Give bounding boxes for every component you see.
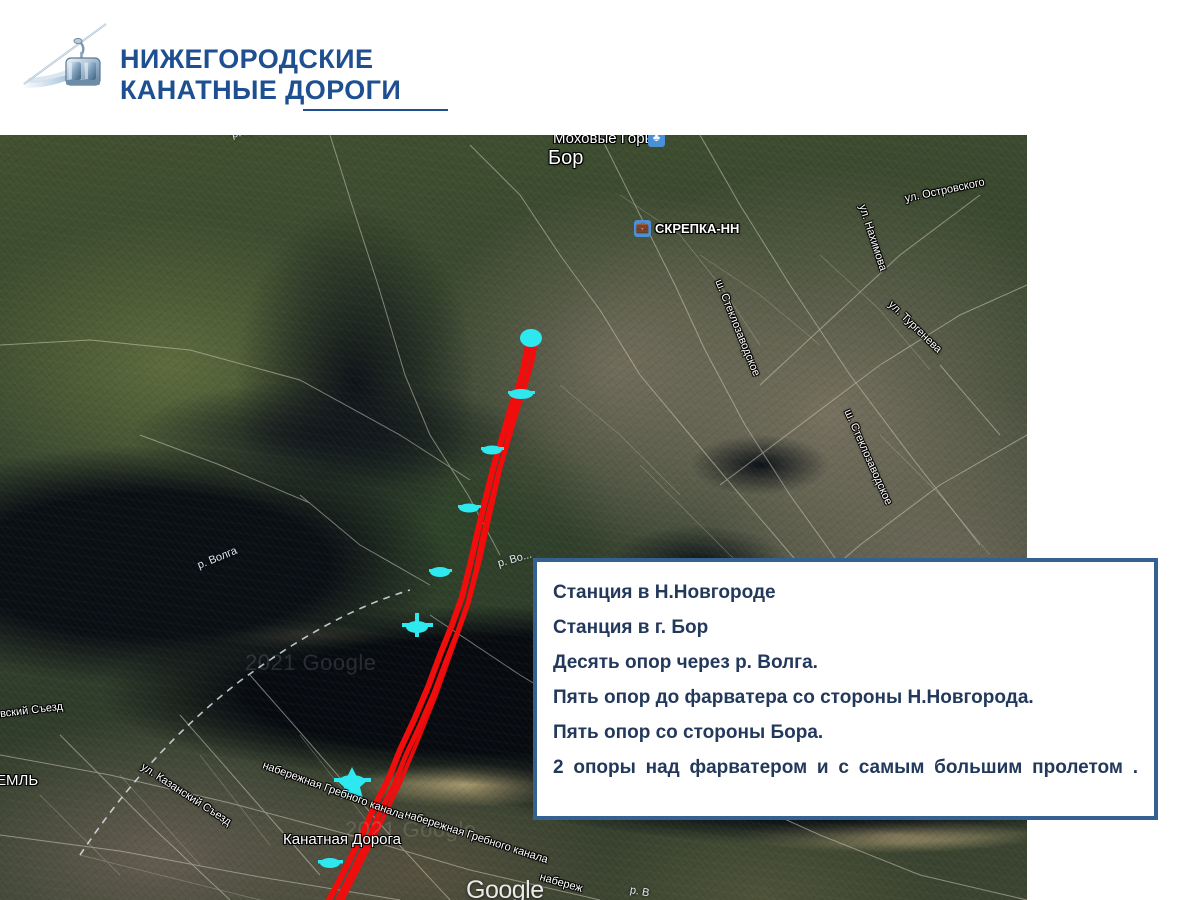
cableway-route-line (290, 335, 536, 900)
info-line-3: Десять опор через р. Волга. (553, 650, 1138, 676)
logo-line-1: НИЖЕГОРОДСКИЕ (120, 44, 401, 75)
info-line-5: Пять опор со стороны Бора. (553, 720, 1138, 746)
river-channel-dashed-line (80, 590, 410, 855)
cable-car-gondola-icon (18, 20, 118, 100)
pylon-marker (458, 504, 481, 513)
pylon-marker (318, 858, 343, 868)
info-line-2: Станция в г. Бор (553, 615, 1138, 641)
park-poi-icon: ♣ (648, 135, 665, 147)
pylon-marker-fairway (334, 767, 371, 799)
logo-wordmark: НИЖЕГОРОДСКИЕ КАНАТНЫЕ ДОРОГИ (120, 44, 401, 106)
company-logo: НИЖЕГОРОДСКИЕ КАНАТНЫЕ ДОРОГИ (18, 20, 438, 102)
info-line-4: Пять опор до фарватера со стороны Н.Новг… (553, 685, 1138, 711)
map-ghost-watermark: 2021 Google (345, 817, 477, 843)
pylon-markers (259, 329, 542, 900)
pylon-marker-fairway (402, 613, 433, 637)
info-line-6: 2 опоры над фарватером и с самым большим… (553, 755, 1138, 807)
logo-underline (303, 109, 448, 111)
pylon-marker (429, 567, 452, 577)
info-line-1: Станция в Н.Новгороде (553, 580, 1138, 606)
map-ghost-watermark: 2021 Google (245, 650, 377, 676)
business-poi-icon: 💼 (634, 220, 651, 237)
pylon-marker (520, 329, 542, 347)
logo-line-2: КАНАТНЫЕ ДОРОГИ (120, 75, 401, 106)
page-header: НИЖЕГОРОДСКИЕ КАНАТНЫЕ ДОРОГИ (0, 0, 1200, 132)
info-callout-box: Станция в Н.Новгороде Станция в г. Бор Д… (533, 558, 1158, 820)
google-watermark: Google (466, 876, 544, 900)
